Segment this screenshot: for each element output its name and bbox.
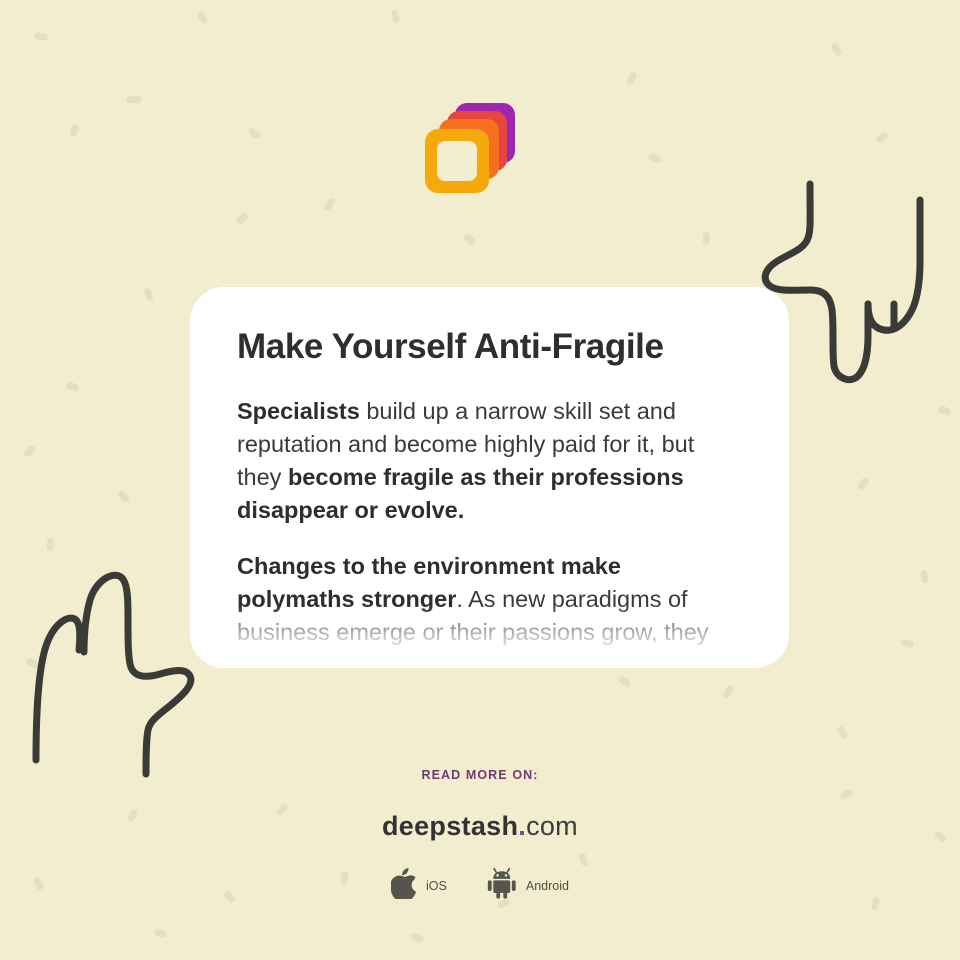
idea-paragraph: Changes to the environment make polymath… <box>237 550 742 668</box>
idea-text-bold: become fragile as their professions disa… <box>237 464 684 523</box>
idea-card-content: Make Yourself Anti-Fragile Specialists b… <box>190 287 789 668</box>
logo-cutout <box>437 141 477 181</box>
confetti-dash <box>143 287 154 302</box>
ios-store-label: iOS <box>426 879 447 893</box>
confetti-dash <box>196 10 209 25</box>
site-url-link[interactable]: deepstash.com <box>0 811 960 842</box>
confetti-dash <box>46 538 54 552</box>
confetti-dash <box>65 381 80 392</box>
confetti-dash <box>116 489 130 503</box>
logo-amber-layer <box>425 129 489 193</box>
app-store-links: iOS Android <box>0 867 960 904</box>
page-title: Make Yourself Anti-Fragile <box>237 327 742 367</box>
confetti-dash <box>33 32 48 41</box>
idea-text-bold: Specialists <box>237 398 360 424</box>
site-url-dot: . <box>518 811 526 841</box>
confetti-dash <box>647 153 662 165</box>
ios-store-link[interactable]: iOS <box>391 868 447 904</box>
deepstash-logo <box>429 103 515 193</box>
confetti-dash <box>830 42 843 57</box>
confetti-dash <box>900 638 914 648</box>
idea-paragraph: Specialists build up a narrow skill set … <box>237 395 742 527</box>
site-url-name: deepstash <box>382 811 518 841</box>
confetti-dash <box>390 9 400 23</box>
android-icon <box>487 867 517 904</box>
apple-icon <box>391 868 417 904</box>
confetti-dash <box>857 476 871 490</box>
confetti-dash <box>69 123 80 138</box>
confetti-dash <box>703 232 710 245</box>
confetti-dash <box>462 233 476 247</box>
confetti-dash <box>937 405 952 416</box>
confetti-dash <box>626 71 638 86</box>
confetti-dash <box>22 445 36 459</box>
confetti-dash <box>410 932 425 944</box>
confetti-dash <box>875 131 889 145</box>
confetti-dash <box>247 127 262 140</box>
confetti-dash <box>617 675 632 688</box>
confetti-dash <box>25 657 40 670</box>
confetti-dash <box>235 211 249 225</box>
confetti-dash <box>153 928 167 938</box>
read-more-label: READ MORE ON: <box>0 768 960 782</box>
android-store-label: Android <box>526 879 569 893</box>
idea-card[interactable]: Make Yourself Anti-Fragile Specialists b… <box>190 287 789 668</box>
confetti-dash <box>920 569 929 583</box>
confetti-dash <box>126 96 142 103</box>
pointing-hand-bottom-left-icon <box>18 558 218 795</box>
site-url-tld: com <box>526 811 578 841</box>
confetti-dash <box>323 197 336 212</box>
android-store-link[interactable]: Android <box>487 867 569 904</box>
confetti-dash <box>722 684 735 699</box>
footer: READ MORE ON: deepstash.com iOS <box>0 768 960 904</box>
confetti-dash <box>836 725 849 740</box>
